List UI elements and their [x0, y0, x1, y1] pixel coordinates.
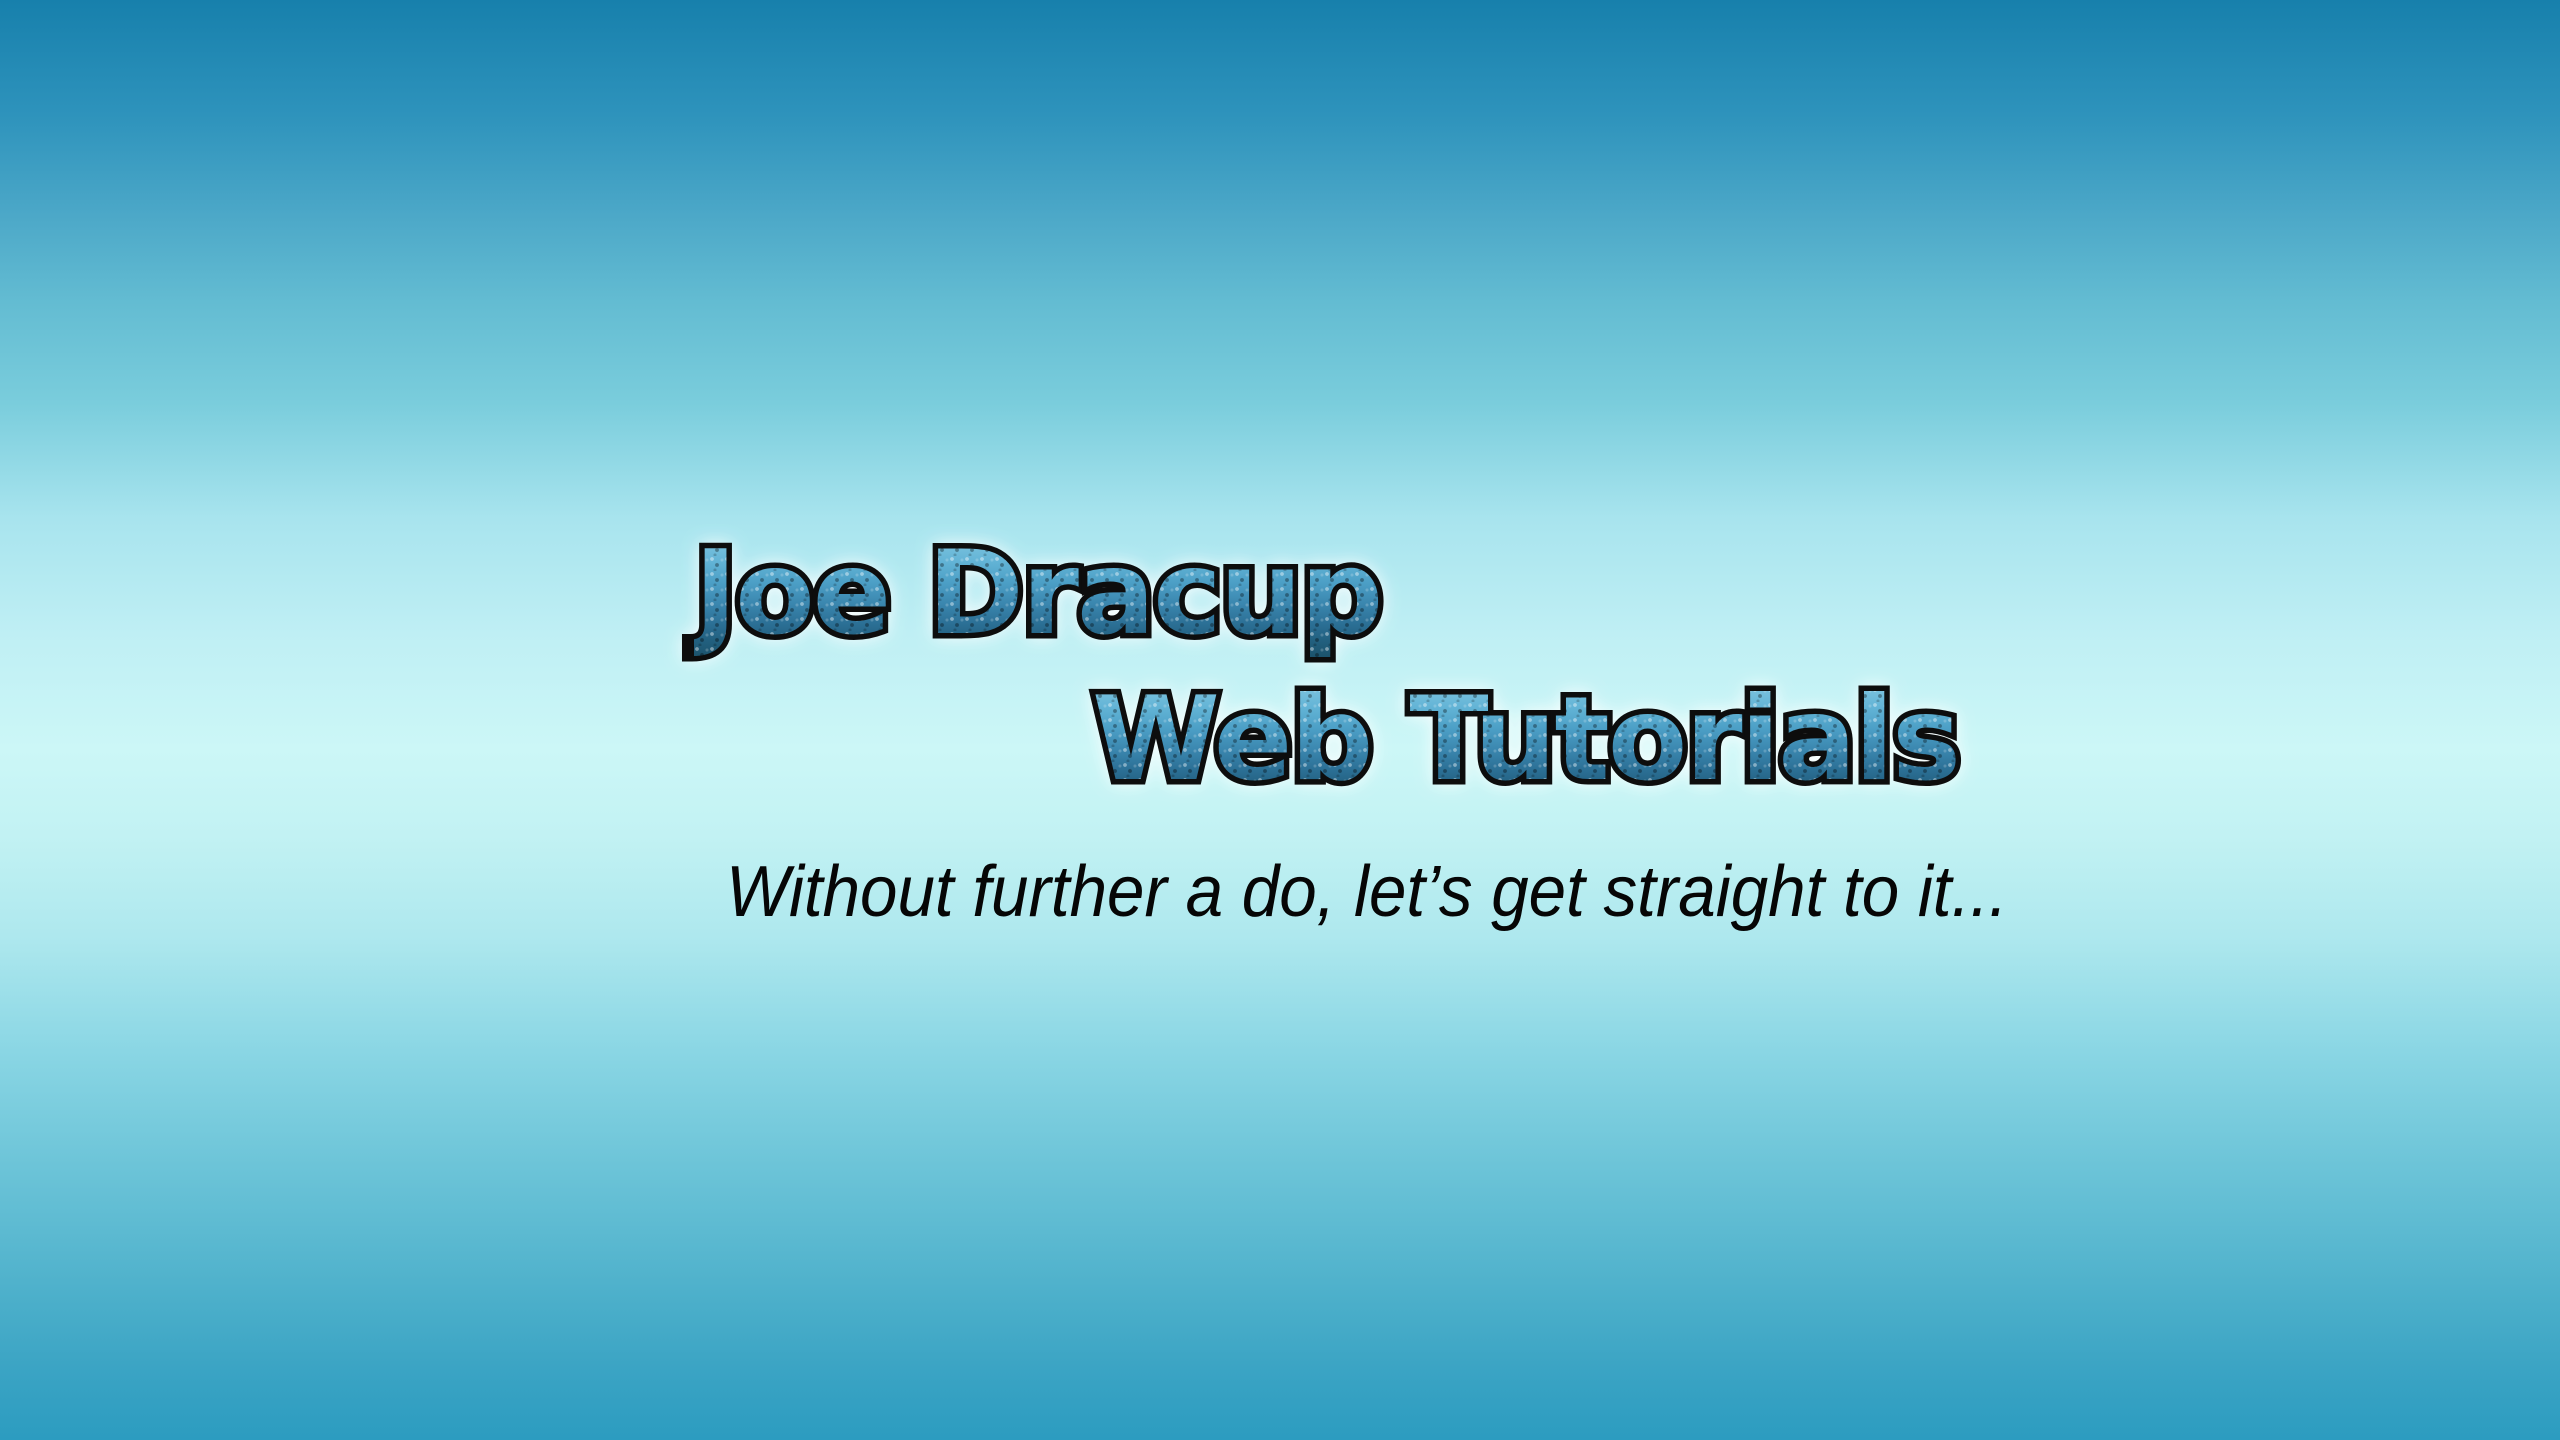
title-slide: Joe Dracup Joe Dracup Joe Dracup Web Tut…: [0, 0, 2560, 1440]
title-block: Joe Dracup Joe Dracup Joe Dracup Web Tut…: [0, 0, 2560, 1440]
subtitle-text: Without further a do, let’s get straight…: [726, 856, 2008, 928]
title-line-secondary: Web Tutorials Web Tutorials Web Tutorial…: [1092, 682, 1959, 798]
title-line-primary: Joe Dracup Joe Dracup Joe Dracup: [694, 536, 1381, 652]
title-line-primary-fill: Joe Dracup: [694, 526, 1381, 661]
title-line-secondary-fill: Web Tutorials: [1092, 672, 1959, 807]
